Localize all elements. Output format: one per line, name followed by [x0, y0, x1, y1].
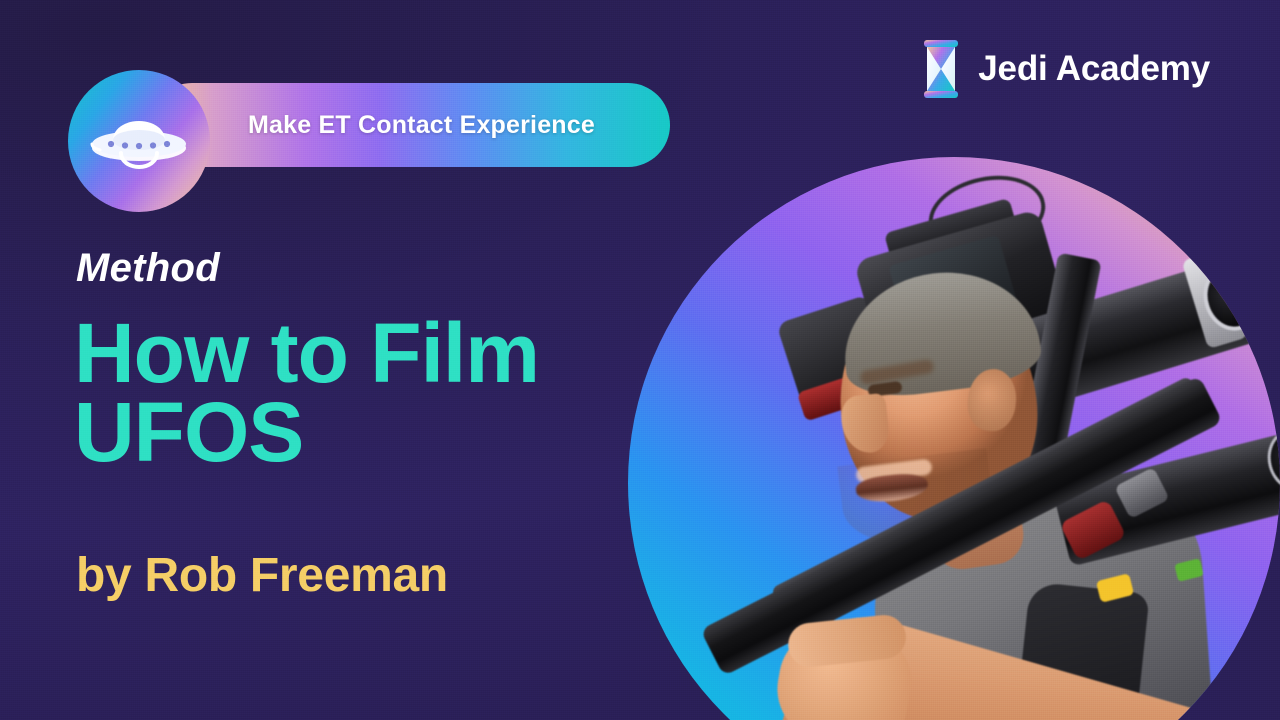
- ufo-icon: [68, 70, 210, 212]
- brand-name: Jedi Academy: [978, 49, 1210, 89]
- presenter-photo: [628, 157, 1280, 720]
- author-byline: by Rob Freeman: [76, 548, 448, 603]
- badge-pill: Make ET Contact Experience: [150, 83, 670, 167]
- badge-label: Make ET Contact Experience: [248, 111, 595, 140]
- hourglass-icon: [920, 40, 962, 98]
- poster-canvas: Make ET Contact Experience Method How to…: [0, 0, 1280, 720]
- page-title-line-2: UFOS: [74, 393, 539, 472]
- cable-shape: [1181, 508, 1280, 676]
- hero-circle: [628, 157, 1280, 720]
- page-title: How to Film UFOS: [74, 314, 539, 472]
- page-eyebrow: Method: [76, 246, 220, 291]
- brand-lockup: Jedi Academy: [920, 40, 1210, 98]
